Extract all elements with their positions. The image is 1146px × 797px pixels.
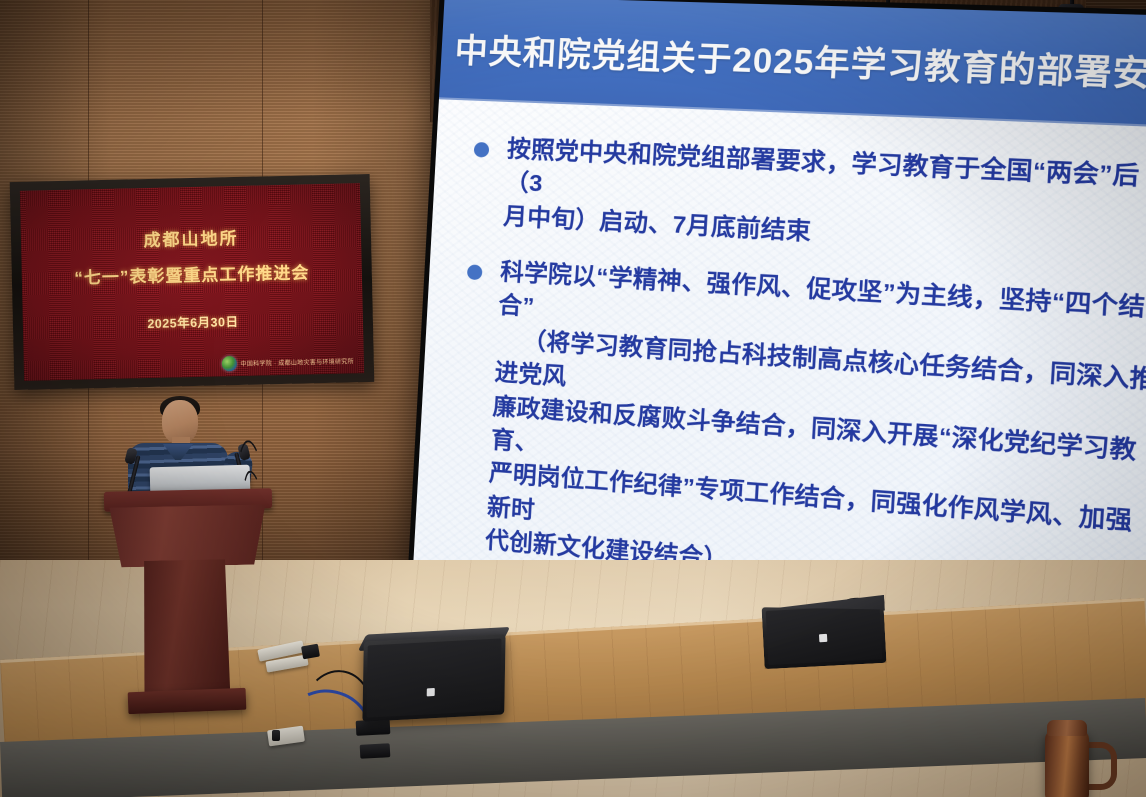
stage-monitor-speaker [362,634,505,722]
bullet-line: 严明岗位工作纪律”专项工作结合，同强化作风学风、加强新时 [487,459,1134,534]
podium-base [128,688,247,715]
monitor-badge [819,634,827,642]
monitor-badge [427,688,435,696]
logo-mark-icon [221,356,236,371]
bullet-text: 科学院以“学精神、强作风、促攻坚”为主线，坚持“四个结合” （将学习教育同抢占科… [484,255,1146,612]
stage-monitor-speaker [761,601,886,669]
monitor-grille [366,638,501,717]
bullet-line: 月中旬）启动、7月底前结束 [503,202,812,244]
slide-bullet: 科学院以“学精神、强作风、促攻坚”为主线，坚持“四个结合” （将学习教育同抢占科… [444,253,1146,612]
led-banner-frame: 成都山地所 “七一”表彰暨重点工作推进会 2025年6月30日 中国科学院 · … [10,174,375,390]
bullet-line: 科学院以“学精神、强作风、促攻坚”为主线，坚持“四个结合” [498,258,1146,321]
projection-screen: 中央和院党组关于2025年学习教育的部署安排 按照党中央和院党组部署要求，学习教… [408,0,1146,635]
bullet-line: 按照党中央和院党组部署要求，学习教育于全国“两会”后（3 [505,135,1141,197]
institute-logo: 中国科学院 · 成都山地灾害与环境研究所 [221,353,354,371]
cable-connector [360,743,391,759]
cable-connector [356,719,391,736]
led-banner-date: 2025年6月30日 [147,311,239,332]
thermos-flask [1045,730,1089,797]
logo-text: 中国科学院 · 成都山地灾害与环境研究所 [240,356,354,368]
led-banner-line1: 成都山地所 [143,224,239,251]
slide-bullet: 按照党中央和院党组部署要求，学习教育于全国“两会”后（3 月中旬）启动、7月底前… [462,131,1146,268]
thermos-lid [1047,720,1087,736]
bullet-dot-icon [467,264,483,280]
cable-connector [272,730,280,741]
led-banner-line2: “七一”表彰暨重点工作推进会 [74,258,310,288]
bullet-text: 按照党中央和院党组部署要求，学习教育于全国“两会”后（3 月中旬）启动、7月底前… [502,132,1146,267]
podium-column [142,559,231,701]
red-led-banner: 成都山地所 “七一”表彰暨重点工作推进会 2025年6月30日 中国科学院 · … [20,183,364,381]
slide-body: 按照党中央和院党组部署要求，学习教育于全国“两会”后（3 月中旬）启动、7月底前… [413,99,1146,629]
presentation-slide: 中央和院党组关于2025年学习教育的部署安排 按照党中央和院党组部署要求，学习教… [413,0,1146,629]
screen-bezel: 中央和院党组关于2025年学习教育的部署安排 按照党中央和院党组部署要求，学习教… [408,0,1146,635]
bullet-dot-icon [474,142,490,158]
conference-photo-scene: 成都山地所 “七一”表彰暨重点工作推进会 2025年6月30日 中国科学院 · … [0,0,1146,797]
slide-title: 中央和院党组关于2025年学习教育的部署安排 [454,24,1146,98]
